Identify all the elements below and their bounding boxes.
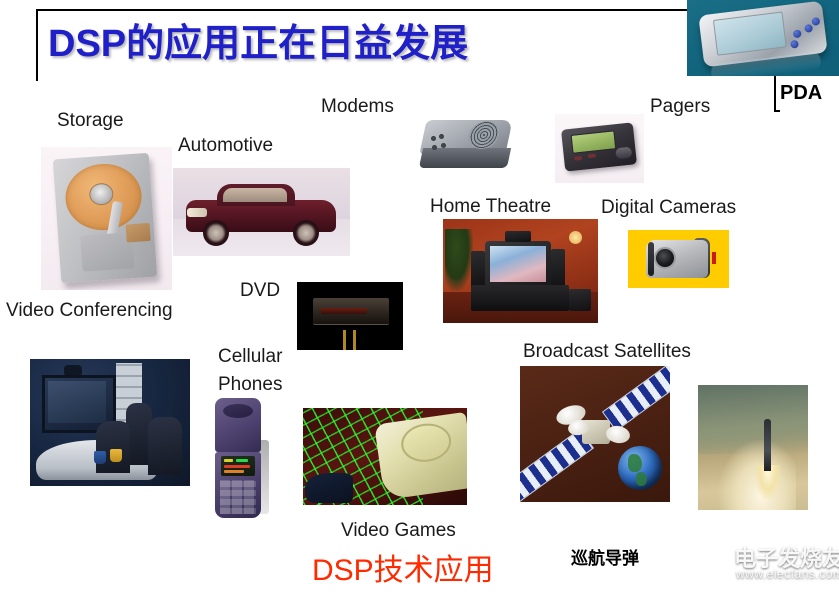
vc-participant-2 bbox=[148, 417, 182, 475]
watermark-url: www.elecfans.com bbox=[736, 567, 839, 581]
cellphone-earpiece bbox=[223, 404, 253, 418]
label-broadcast-satellites: Broadcast Satellites bbox=[523, 341, 691, 363]
label-automotive: Automotive bbox=[178, 135, 273, 157]
slide-canvas: DSP的应用正在日益发展 PDA Storage Automotive bbox=[0, 0, 839, 597]
home-theatre-image bbox=[443, 219, 598, 323]
digital-cameras-image bbox=[628, 230, 729, 288]
camera-lens bbox=[654, 247, 676, 269]
ht-left-speaker bbox=[471, 251, 485, 289]
vc-camera bbox=[64, 365, 82, 375]
dvd-cable-2 bbox=[353, 330, 356, 350]
earth-landmass-2 bbox=[636, 472, 647, 486]
cellular-phones-image bbox=[205, 396, 272, 524]
dvd-cable-1 bbox=[343, 330, 346, 350]
label-dvd: DVD bbox=[240, 280, 280, 302]
label-cellular-phones-line2: Phones bbox=[218, 375, 296, 395]
watermark: 电子发烧友 www.elecfans.com bbox=[692, 535, 837, 591]
automotive-image bbox=[173, 168, 350, 256]
satellite-earth-globe bbox=[618, 446, 662, 490]
pda-screen bbox=[713, 11, 787, 55]
pda-button-4 bbox=[790, 40, 799, 49]
ht-plant bbox=[445, 229, 473, 291]
car-headlight bbox=[187, 208, 207, 217]
pager-control-pad bbox=[615, 147, 632, 160]
label-home-theatre: Home Theatre bbox=[430, 196, 551, 218]
modem-front-panel bbox=[419, 148, 511, 168]
vg-disc-tray bbox=[399, 420, 454, 465]
pager-lcd-screen bbox=[571, 130, 617, 153]
vc-monitor-screen bbox=[48, 381, 106, 423]
video-games-image bbox=[303, 408, 467, 505]
satellite-solar-panel-right bbox=[602, 366, 670, 431]
vc-blue-mug bbox=[94, 451, 106, 464]
dvd-image bbox=[297, 282, 403, 350]
cellphone-led-4 bbox=[224, 470, 244, 473]
cellphone-flip-lid bbox=[215, 398, 261, 452]
pda-button-2 bbox=[804, 24, 813, 33]
cellphone-led-3 bbox=[224, 465, 250, 468]
modem-button-4 bbox=[441, 143, 446, 148]
cruise-missile-image bbox=[698, 385, 808, 510]
cellphone-keypad bbox=[220, 480, 256, 514]
pagers-image bbox=[555, 114, 644, 183]
earth-landmass-1 bbox=[628, 454, 642, 472]
ht-lamp bbox=[569, 231, 582, 244]
vg-game-console bbox=[374, 412, 467, 500]
label-pagers: Pagers bbox=[650, 96, 710, 118]
ht-television bbox=[485, 241, 551, 289]
label-digital-cameras: Digital Cameras bbox=[601, 197, 736, 219]
camera-red-accent bbox=[712, 252, 716, 264]
ht-tv-screen bbox=[490, 246, 546, 282]
broadcast-satellites-image bbox=[520, 366, 670, 502]
pda-button-3 bbox=[811, 17, 820, 26]
cellphone-led-1 bbox=[224, 459, 233, 462]
modem-button-3 bbox=[432, 145, 437, 150]
ht-av-rack bbox=[471, 285, 569, 311]
car-rear-wheel bbox=[293, 220, 319, 246]
car-front-wheel bbox=[203, 220, 229, 246]
pager-key-2 bbox=[588, 153, 596, 158]
vc-participant-3 bbox=[96, 421, 130, 473]
page-title: DSP的应用正在日益发展 bbox=[48, 12, 468, 67]
label-cellular-phones-line1: Cellular bbox=[218, 347, 296, 367]
label-storage: Storage bbox=[57, 110, 124, 132]
label-modems: Modems bbox=[321, 96, 394, 118]
label-pda: PDA bbox=[780, 82, 822, 105]
hdd-connector bbox=[126, 223, 151, 243]
storage-image bbox=[41, 147, 172, 290]
cellphone-led-2 bbox=[236, 459, 248, 462]
watermark-brand: 电子发烧友 bbox=[734, 541, 839, 573]
pda-image bbox=[687, 0, 839, 76]
vg-foreground-shape bbox=[305, 473, 353, 503]
modem-button-1 bbox=[431, 136, 436, 141]
pager-device-body bbox=[561, 122, 637, 171]
ht-right-speaker bbox=[551, 249, 565, 289]
ht-center-speaker bbox=[505, 231, 531, 242]
bottom-red-caption: DSP技术应用 bbox=[312, 545, 494, 589]
hdd-chassis bbox=[53, 153, 157, 283]
dvd-display-panel bbox=[321, 308, 367, 314]
cellphone-base bbox=[215, 452, 261, 518]
modem-button-2 bbox=[439, 134, 444, 139]
modems-image bbox=[417, 114, 518, 179]
missile-body bbox=[764, 419, 771, 471]
pda-button-1 bbox=[793, 29, 802, 38]
label-video-conferencing: Video Conferencing bbox=[6, 300, 173, 322]
pager-key-1 bbox=[574, 156, 582, 161]
video-conferencing-image bbox=[30, 359, 190, 486]
vc-yellow-mug bbox=[110, 449, 122, 462]
car-windows bbox=[223, 188, 287, 202]
label-cruise-missile: 巡航导弹 bbox=[571, 544, 639, 569]
label-video-games: Video Games bbox=[341, 520, 456, 542]
cellphone-screen bbox=[221, 456, 255, 476]
ht-subwoofer bbox=[569, 289, 591, 311]
watermark-logo-icon bbox=[692, 543, 732, 581]
